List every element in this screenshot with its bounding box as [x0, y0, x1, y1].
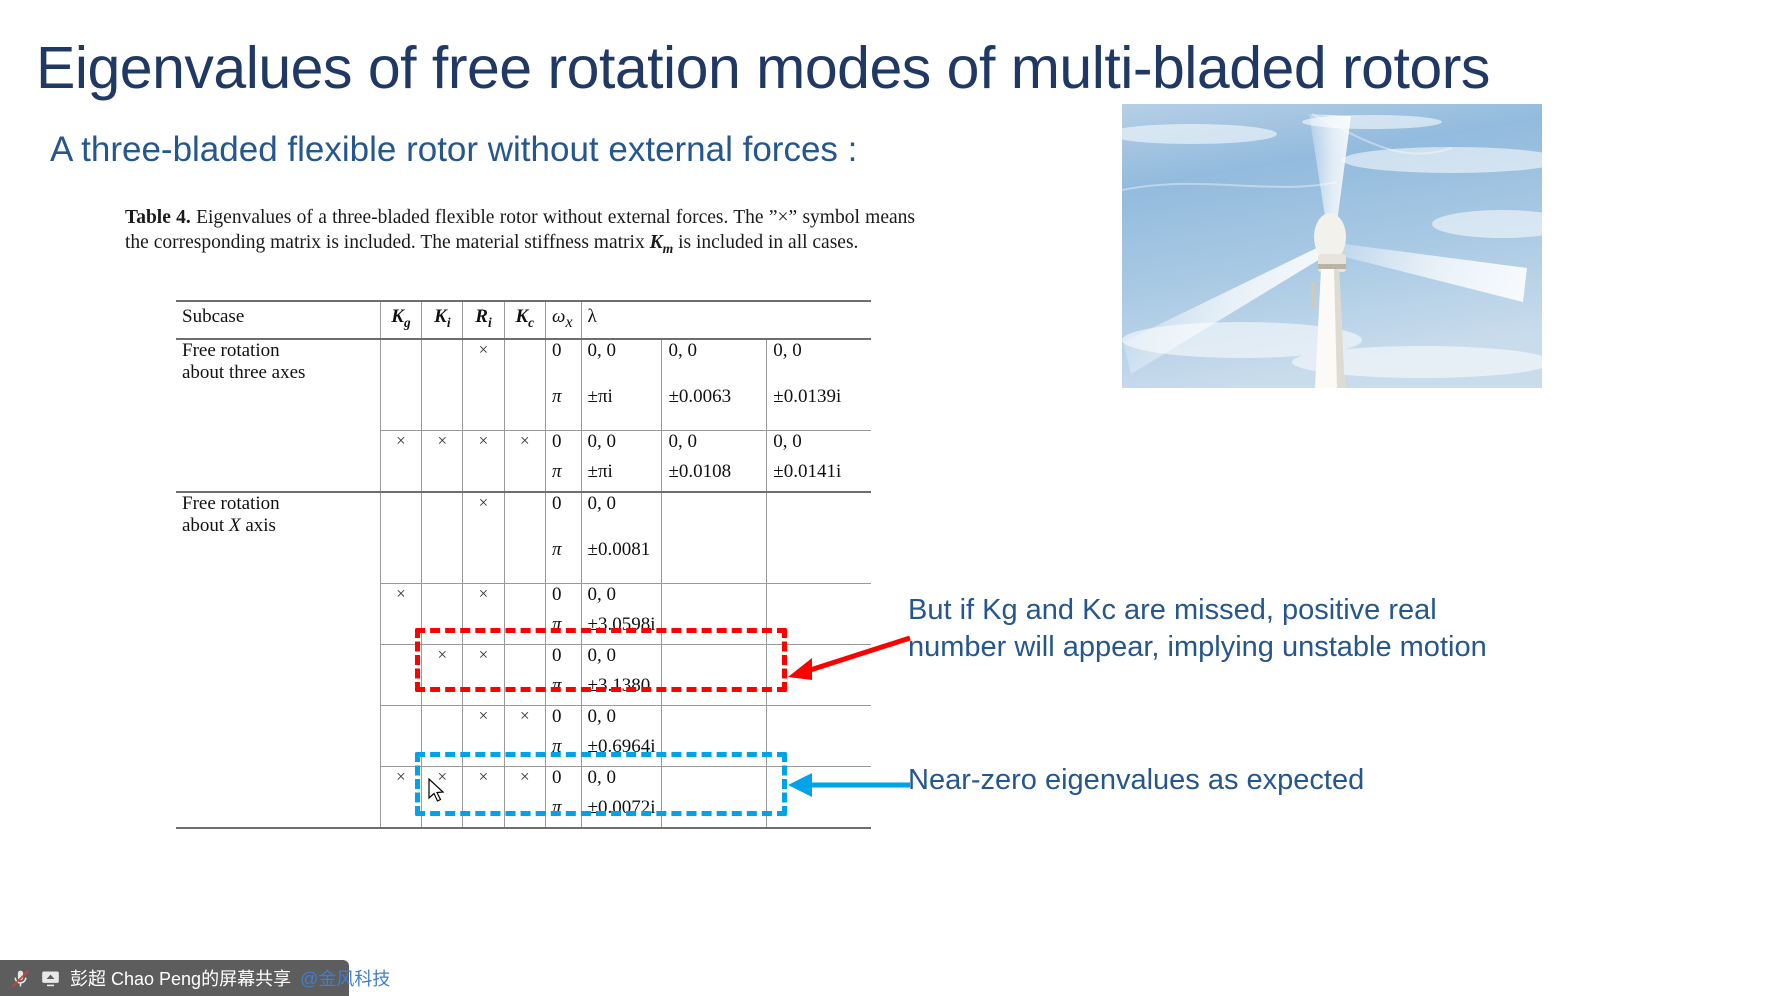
col-header-lambda: λ: [581, 301, 662, 339]
col-header-subcase: Subcase: [176, 301, 380, 339]
subcase-free-rotation-three-axes: Free rotation about three axes: [176, 339, 380, 492]
cell-lambda-2: [662, 539, 767, 584]
cell-omega: 0: [546, 430, 581, 461]
cell-lambda-3: [767, 705, 871, 736]
cell-kc: [504, 492, 546, 584]
cell-lambda-3: ±0.0139i: [767, 386, 871, 431]
cell-lambda-2: 0, 0: [662, 430, 767, 461]
table-header-row: Subcase Kg Ki Ri Kc ωx λ: [176, 301, 871, 339]
wind-turbine-photo: [1122, 104, 1542, 388]
cell-lambda-1: 0, 0: [581, 492, 662, 539]
table-row: Free rotation about three axes × 0 0, 0 …: [176, 339, 871, 386]
wind-turbine-illustration: [1122, 104, 1542, 388]
slide-subtitle: A three-bladed flexible rotor without ex…: [50, 130, 857, 170]
cell-lambda-1: ±πi: [581, 386, 662, 431]
subcase-free-rotation-x-axis: Free rotation about X axis: [176, 492, 380, 828]
cell-lambda-1: ±0.0081: [581, 539, 662, 584]
mouse-cursor-icon: [428, 778, 448, 806]
cell-ki: [422, 339, 463, 431]
cell-ri: ×: [463, 492, 504, 584]
cell-lambda-3: 0, 0: [767, 430, 871, 461]
cell-kg: ×: [380, 430, 422, 492]
cell-omega: 0: [546, 583, 581, 614]
km-symbol: Km: [650, 232, 674, 253]
cell-lambda-1: 0, 0: [581, 339, 662, 386]
annotation-blue-line1: Near-zero eigenvalues as expected: [908, 762, 1548, 799]
cell-lambda-3: 0, 0: [767, 339, 871, 386]
annotation-blue-text: Near-zero eigenvalues as expected: [908, 762, 1548, 799]
col-header-kc: Kc: [504, 301, 546, 339]
cell-lambda-2: [662, 583, 767, 614]
col-header-kg: Kg: [380, 301, 422, 339]
cell-lambda-2: ±0.0108: [662, 461, 767, 492]
col-header-ki: Ki: [422, 301, 463, 339]
cell-omega: π: [546, 386, 581, 431]
cell-lambda-3: [767, 492, 871, 539]
screen-share-brand: @金风科技: [300, 965, 390, 991]
cell-ri: ×: [463, 339, 504, 431]
cell-ki: [422, 492, 463, 584]
cell-lambda-1: 0, 0: [581, 705, 662, 736]
cell-lambda-3: ±0.0141i: [767, 461, 871, 492]
mic-muted-icon[interactable]: [10, 968, 31, 989]
cell-lambda-1: 0, 0: [581, 583, 662, 614]
cell-kg: [380, 339, 422, 431]
cell-lambda-2: [662, 705, 767, 736]
table-4: Subcase Kg Ki Ri Kc ωx λ Free rotation a…: [176, 300, 871, 829]
red-dashed-highlight-box: [415, 628, 787, 692]
cell-lambda-3: [767, 539, 871, 584]
cell-kc: ×: [504, 430, 546, 492]
annotation-red-line1: But if Kg and Kc are missed, positive re…: [908, 592, 1548, 629]
cell-ri: ×: [463, 430, 504, 492]
screen-share-bar[interactable]: 彭超 Chao Peng的屏幕共享 @金风科技: [0, 960, 349, 996]
screen-share-label: 彭超 Chao Peng的屏幕共享: [70, 965, 291, 991]
col-header-omega: ωx: [546, 301, 581, 339]
cell-lambda-2: [662, 492, 767, 539]
table-row: Free rotation about X axis × 0 0, 0: [176, 492, 871, 539]
annotation-red-line2: number will appear, implying unstable mo…: [908, 629, 1548, 666]
cell-kc: [504, 339, 546, 431]
screen-share-icon[interactable]: [40, 968, 61, 989]
cell-lambda-3: [767, 583, 871, 614]
slide-canvas: Eigenvalues of free rotation modes of mu…: [0, 0, 1768, 996]
table-caption: Table 4. Eigenvalues of a three-bladed f…: [125, 205, 915, 258]
page-title: Eigenvalues of free rotation modes of mu…: [36, 38, 1736, 100]
annotation-red-text: But if Kg and Kc are missed, positive re…: [908, 592, 1548, 666]
cell-lambda-1: ±πi: [581, 461, 662, 492]
cell-omega: 0: [546, 705, 581, 736]
table-caption-label: Table 4.: [125, 207, 191, 228]
cell-lambda-2: 0, 0: [662, 339, 767, 386]
cell-omega: 0: [546, 492, 581, 539]
cell-lambda-1: 0, 0: [581, 430, 662, 461]
cell-ki: ×: [422, 430, 463, 492]
cell-lambda-2: ±0.0063: [662, 386, 767, 431]
cell-omega: 0: [546, 339, 581, 386]
blue-dashed-highlight-box: [415, 752, 787, 816]
col-header-ri: Ri: [463, 301, 504, 339]
table-caption-text-2: is included in all cases.: [673, 232, 858, 253]
cell-kg: [380, 492, 422, 584]
cell-omega: π: [546, 539, 581, 584]
cell-omega: π: [546, 461, 581, 492]
